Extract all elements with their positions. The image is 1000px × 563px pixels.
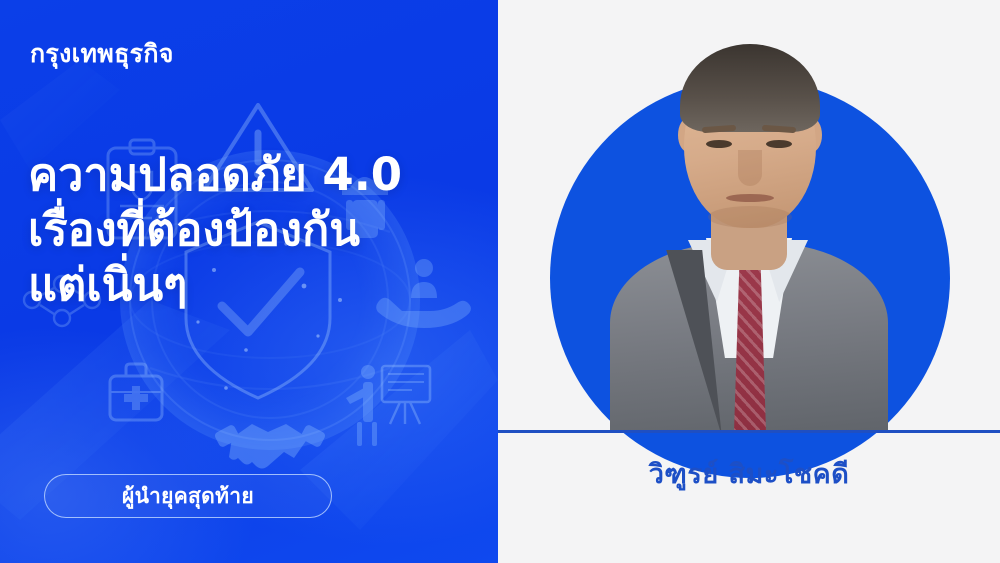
portrait-eye-left	[706, 140, 732, 148]
speaker-name: วิฑูรย์ สิมะโชคดี	[498, 452, 1000, 495]
content-panel: กรุงเทพธุรกิจ ความปลอดภัย 4.0 เรื่องที่ต…	[0, 0, 498, 563]
portrait-eye-right	[766, 140, 792, 148]
portrait-hair	[680, 44, 820, 132]
publisher-logo[interactable]: กรุงเทพธุรกิจ	[30, 34, 174, 74]
headline-line-3: แต่เนิ่นๆ	[28, 258, 498, 313]
headline-line-1: ความปลอดภัย 4.0	[28, 148, 498, 203]
portrait-mouth	[726, 194, 774, 202]
page-title: ความปลอดภัย 4.0 เรื่องที่ต้องป้องกัน แต่…	[28, 148, 498, 313]
topic-badge[interactable]: ผู้นำยุคสุดท้าย	[44, 474, 332, 518]
portrait-chin-shadow	[708, 206, 792, 228]
topic-badge-label: ผู้นำยุคสุดท้าย	[122, 480, 254, 513]
promo-banner: วิฑูรย์ สิมะโชคดี	[0, 0, 1000, 563]
name-divider	[498, 430, 1000, 433]
headline-line-2: เรื่องที่ต้องป้องกัน	[28, 203, 498, 258]
speaker-panel: วิฑูรย์ สิมะโชคดี	[498, 0, 1000, 563]
speaker-portrait	[498, 0, 1000, 432]
portrait-nose	[738, 150, 762, 186]
